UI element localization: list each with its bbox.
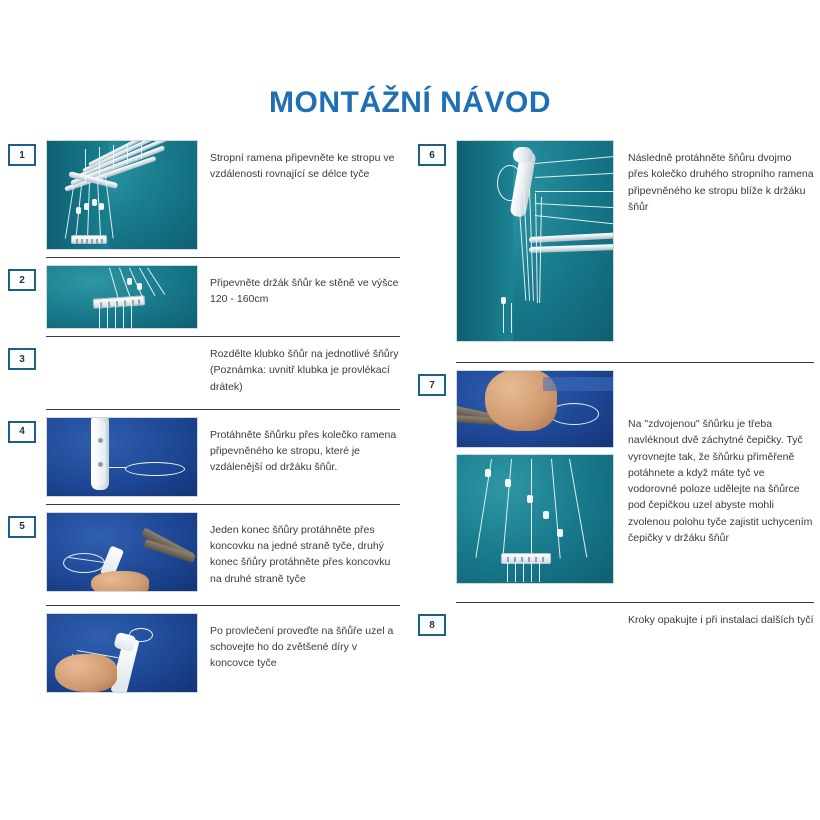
step-8-body: Kroky opakujte i při instalaci dalších t… [446, 610, 814, 628]
step-badge-2: 2 [8, 269, 36, 291]
caps-on-cords-holder-photo [456, 454, 614, 584]
step-6-figure-col [456, 140, 616, 342]
step-2-body: Připevněte držák šňůr ke stěně ve výšce … [36, 265, 400, 329]
step-6-text: Následně protáhněte šňůru dvojmo přes ko… [616, 140, 814, 215]
step-5-continuation: Po provlečení proveďte na šňůře uzel a s… [8, 613, 400, 693]
step-1-text: Stropní ramena připevněte ke stropu ve v… [198, 140, 400, 183]
step-6: 6 [418, 140, 814, 342]
step-4-figure-col [46, 417, 198, 497]
ceiling-arms-photo [46, 140, 198, 250]
step-1: 1 [8, 140, 400, 250]
step-5b-text: Po provlečení proveďte na šňůře uzel a s… [198, 613, 400, 672]
step-2: 2 [8, 265, 400, 329]
step-badge-1: 1 [8, 144, 36, 166]
step-badge-7: 7 [418, 374, 446, 396]
step-8: 8 Kroky opakujte i při instalaci dalších… [418, 610, 814, 636]
step-badge-3: 3 [8, 348, 36, 370]
step-7-figure-col [456, 370, 616, 584]
divider-left-5 [46, 605, 400, 606]
step-badge-8: 8 [418, 614, 446, 636]
divider-right-2 [456, 602, 814, 603]
step-badge-4: 4 [8, 421, 36, 443]
page-title: MONTÁŽNÍ NÁVOD [0, 0, 820, 118]
step-5-body: Jeden konec šňůry protáhněte přes koncov… [36, 512, 400, 598]
step-badge-6: 6 [418, 144, 446, 166]
divider-left-4 [46, 504, 400, 505]
rod-endcap-threading-photo [46, 512, 198, 592]
manual-columns: 1 [0, 140, 820, 693]
right-column: 6 [410, 140, 820, 693]
step-5: 5 Jeden konec šňůry protáhněte přes konc… [8, 512, 400, 598]
step-6-body: Následně protáhněte šňůru dvojmo přes ko… [446, 140, 814, 342]
cord-holder-wall-photo [46, 265, 198, 329]
step-5-figure-col [46, 512, 198, 598]
divider-left-2 [46, 336, 400, 337]
ceiling-arm-pulley-photo [46, 417, 198, 497]
divider-left-3 [46, 409, 400, 410]
step-3-text: Rozdělte klubko šňůr na jednotlivé šňůry… [198, 344, 400, 395]
step-8-text: Kroky opakujte i při instalaci dalších t… [616, 610, 814, 628]
left-column: 1 [0, 140, 410, 693]
step-3: 3 Rozdělte klubko šňůr na jednotlivé šňů… [8, 344, 400, 395]
step-4: 4 Protáhněte šňůrku přes kolečko ramena … [8, 417, 400, 497]
step-2-text: Připevněte držák šňůr ke stěně ve výšce … [198, 265, 400, 308]
step-7: 7 [418, 370, 814, 584]
step-3-body: Rozdělte klubko šňůr na jednotlivé šňůry… [36, 344, 400, 395]
step-badge-5: 5 [8, 516, 36, 538]
step-2-figure-col [46, 265, 198, 329]
divider-left-1 [46, 257, 400, 258]
divider-right-1 [456, 362, 814, 363]
step-5b-figure-col [46, 613, 198, 693]
step-1-body: Stropní ramena připevněte ke stropu ve v… [36, 140, 400, 250]
cord-cap-in-hand-photo [456, 370, 614, 448]
step-7-text: Na "zdvojenou" šňůrku je třeba navléknou… [616, 370, 814, 546]
second-ceiling-arm-photo [456, 140, 614, 342]
step-5b-body: Po provlečení proveďte na šňůře uzel a s… [36, 613, 400, 693]
step-1-figure-col [46, 140, 198, 250]
step-5-text: Jeden konec šňůry protáhněte přes koncov… [198, 512, 400, 587]
step-4-text: Protáhněte šňůrku přes kolečko ramena př… [198, 417, 400, 476]
step-7-body: Na "zdvojenou" šňůrku je třeba navléknou… [446, 370, 814, 584]
knot-in-endcap-photo [46, 613, 198, 693]
step-4-body: Protáhněte šňůrku přes kolečko ramena př… [36, 417, 400, 497]
